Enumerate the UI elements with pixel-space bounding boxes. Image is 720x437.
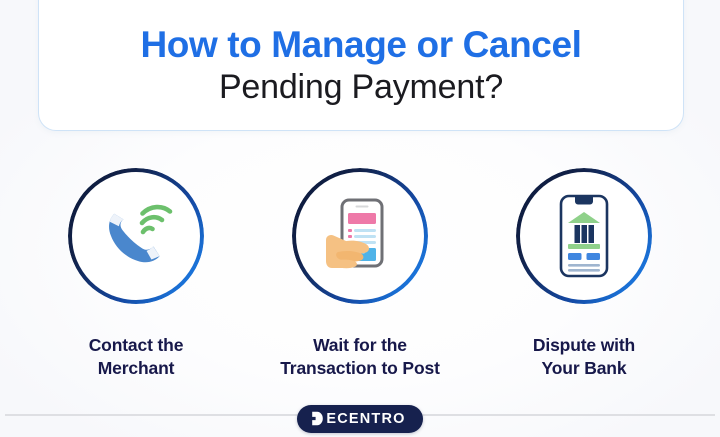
step-2-label-line-2: Transaction to Post	[280, 358, 440, 378]
step-1-circle	[68, 168, 204, 304]
step-3-label-line-2: Your Bank	[542, 358, 627, 378]
step-wait-transaction: Wait for the Transaction to Post	[260, 168, 460, 381]
step-2-circle	[292, 168, 428, 304]
step-dispute-bank: Dispute with Your Bank	[484, 168, 684, 381]
step-1-label-line-1: Contact the	[89, 335, 184, 355]
step-2-label-line-1: Wait for the	[313, 335, 407, 355]
page-title-line-2: Pending Payment?	[219, 67, 503, 108]
step-contact-merchant: Contact the Merchant	[36, 168, 236, 381]
decentro-d-mark-icon	[311, 411, 324, 426]
title-card: How to Manage or Cancel Pending Payment?	[38, 0, 684, 131]
step-1-label: Contact the Merchant	[89, 334, 184, 381]
page-title-line-1: How to Manage or Cancel	[140, 24, 581, 65]
decentro-wordmark: ECENTRO	[326, 411, 405, 427]
step-1-label-line-2: Merchant	[98, 358, 175, 378]
phone-call-icon	[84, 184, 188, 288]
step-3-label: Dispute with Your Bank	[533, 334, 635, 381]
decentro-logo[interactable]: ECENTRO	[297, 405, 422, 433]
steps-row: Contact the Merchant	[0, 168, 720, 381]
step-3-label-line-1: Dispute with	[533, 335, 635, 355]
mobile-bank-icon	[532, 184, 636, 288]
footer: ECENTRO	[0, 400, 720, 437]
step-2-label: Wait for the Transaction to Post	[280, 334, 440, 381]
infographic-canvas: How to Manage or Cancel Pending Payment?	[0, 0, 720, 437]
hand-holding-phone-receipt-icon	[308, 184, 412, 288]
step-3-circle	[516, 168, 652, 304]
